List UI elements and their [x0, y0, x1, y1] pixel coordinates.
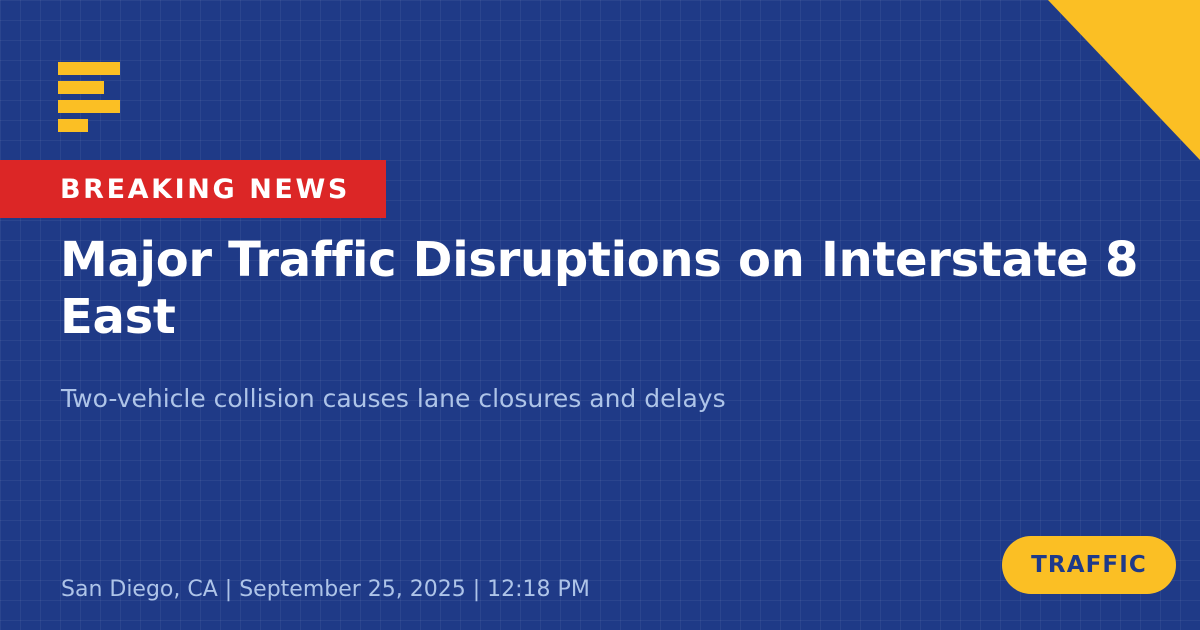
logo-bar-3: [58, 100, 120, 113]
footer-metadata: San Diego, CA | September 25, 2025 | 12:…: [61, 576, 590, 605]
brand-logo[interactable]: [58, 62, 120, 132]
subtitle-text: Two-vehicle collision causes lane closur…: [61, 383, 726, 416]
category-badge-label: TRAFFIC: [1031, 554, 1147, 577]
corner-accent-triangle: [1048, 0, 1200, 160]
logo-bar-4: [58, 119, 88, 132]
news-graphic-canvas: BREAKING NEWS Major Traffic Disruptions …: [0, 0, 1200, 630]
breaking-news-banner: BREAKING NEWS: [0, 160, 386, 218]
page-title: Major Traffic Disruptions on Interstate …: [60, 232, 1170, 345]
logo-bar-2: [58, 81, 104, 94]
category-badge[interactable]: TRAFFIC: [1002, 536, 1176, 594]
logo-bar-1: [58, 62, 120, 75]
breaking-news-label: BREAKING NEWS: [60, 176, 350, 203]
